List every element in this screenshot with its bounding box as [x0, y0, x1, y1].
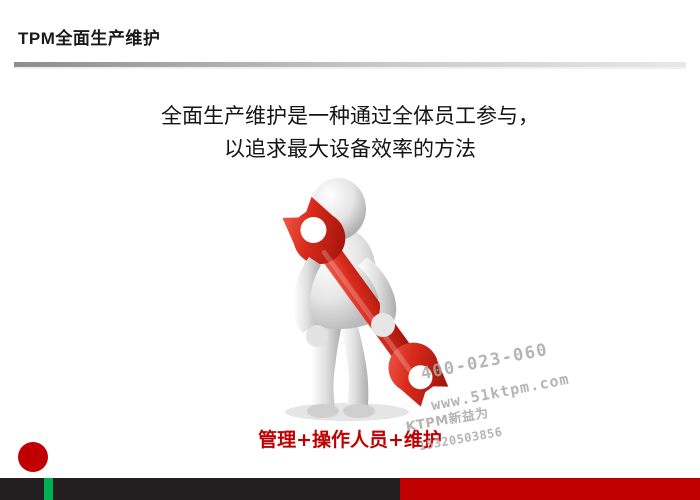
slide-canvas: TPM全面生产维护 全面生产维护是一种通过全体员工参与， 以追求最大设备效率的方… [0, 0, 700, 500]
footer-accent-green [44, 478, 53, 500]
illustration [205, 165, 495, 427]
headline-line-2: 以追求最大设备效率的方法 [0, 133, 700, 166]
footer-dot [18, 442, 48, 472]
page-title: TPM全面生产维护 [18, 24, 160, 49]
footer-accent-red [400, 478, 700, 500]
headline-text: 全面生产维护是一种通过全体员工参与， 以追求最大设备效率的方法 [0, 100, 700, 166]
title-divider-shadow [14, 67, 686, 69]
headline-line-1: 全面生产维护是一种通过全体员工参与， [161, 104, 539, 128]
caption-text: 管理+操作人员+维护 [0, 425, 700, 452]
character-wrench-graphic [205, 165, 495, 427]
